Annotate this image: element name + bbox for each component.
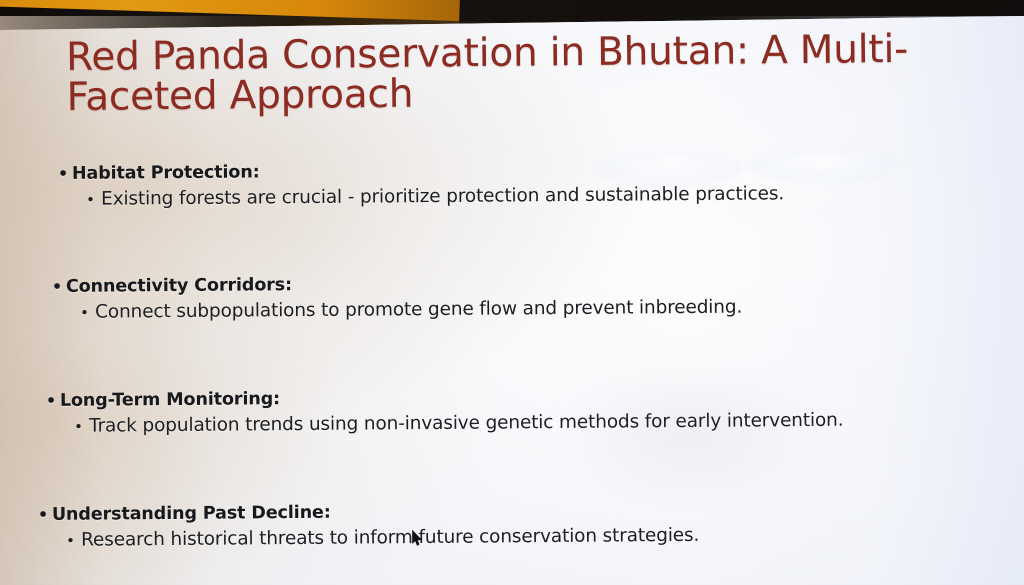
- mouse-pointer-icon[interactable]: [412, 530, 423, 547]
- bullet-group: •Habitat Protection: •Existing forests a…: [58, 156, 1024, 210]
- bullet-group: •Understanding Past Decline: •Research h…: [38, 497, 1024, 551]
- bullet-heading-text: Connectivity Corridors:: [66, 275, 292, 297]
- bullet-heading: •Connectivity Corridors:: [52, 269, 1024, 297]
- sub-bullet-dot-icon: •: [74, 418, 89, 436]
- bullet-dot-icon: •: [46, 391, 60, 410]
- bullet-heading-text: Long-Term Monitoring:: [60, 389, 280, 411]
- bullet-heading-text: Habitat Protection:: [72, 162, 260, 183]
- bullet-heading: •Habitat Protection:: [58, 156, 1024, 184]
- slide-title: Red Panda Conservation in Bhutan: A Mult…: [66, 29, 957, 117]
- bullet-group: •Long-Term Monitoring: •Track population…: [46, 383, 1024, 437]
- bullet-detail-text: Connect subpopulations to promote gene f…: [95, 297, 742, 323]
- bullet-dot-icon: •: [58, 164, 72, 183]
- bullet-dot-icon: •: [52, 277, 66, 296]
- sub-bullet-dot-icon: •: [80, 304, 95, 322]
- sub-bullet-dot-icon: •: [66, 532, 81, 550]
- bullet-heading: •Long-Term Monitoring:: [46, 383, 1024, 411]
- bullet-group: •Connectivity Corridors: •Connect subpop…: [52, 269, 1024, 323]
- screenshot-root: Red Panda Conservation in Bhutan: A Mult…: [0, 0, 1024, 585]
- bullet-detail-text: Existing forests are crucial - prioritiz…: [101, 183, 784, 209]
- bullet-heading-text: Understanding Past Decline:: [52, 503, 331, 525]
- sub-bullet-dot-icon: •: [86, 191, 101, 209]
- bullet-detail: •Existing forests are crucial - prioriti…: [86, 181, 1024, 210]
- bullet-detail: •Connect subpopulations to promote gene …: [80, 294, 1024, 323]
- bullet-dot-icon: •: [38, 505, 52, 524]
- slide-bullet-list: •Habitat Protection: •Existing forests a…: [0, 160, 1024, 390]
